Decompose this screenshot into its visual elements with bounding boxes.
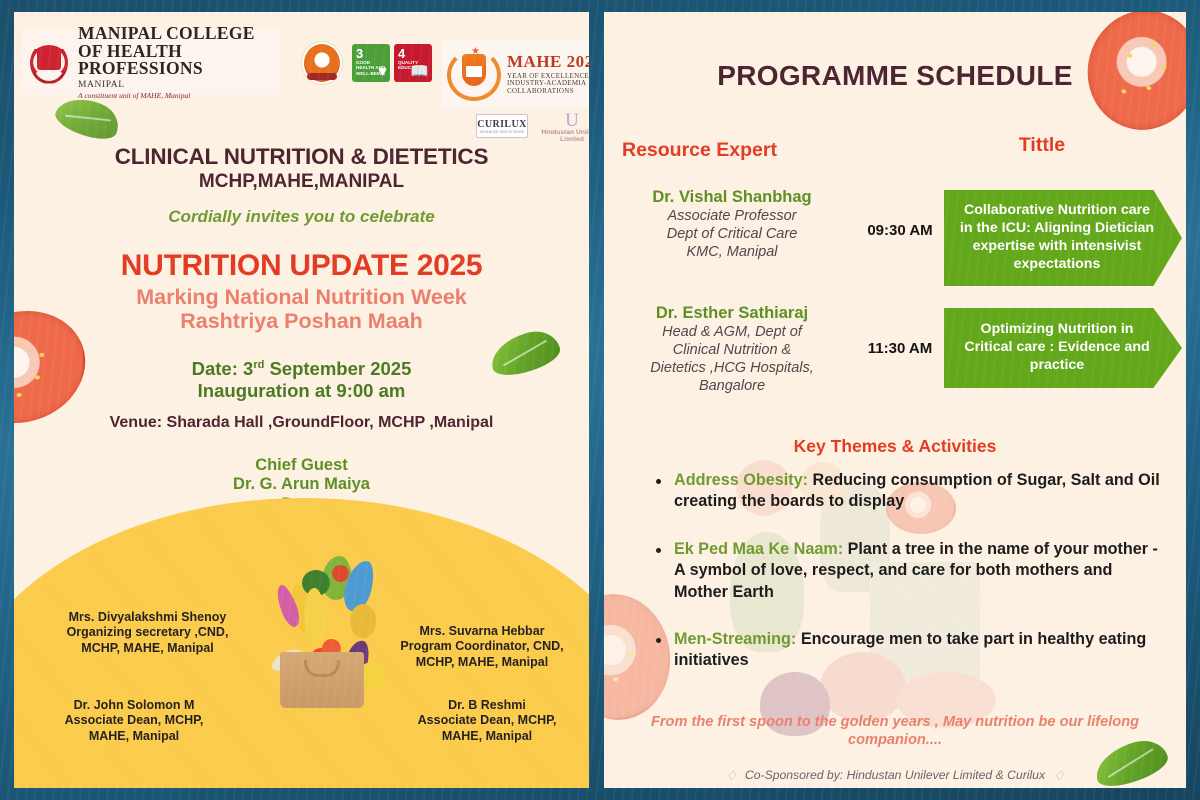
event-subtitle-1: Marking National Nutrition Week bbox=[14, 285, 589, 310]
sdg-4-number: 4 bbox=[398, 47, 429, 60]
curilux-tagline: ADVANCED SKIN SCIENCE bbox=[479, 130, 524, 134]
theme-key: Men-Streaming: bbox=[674, 630, 796, 648]
themes-list: Address Obesity: Reducing consumption of… bbox=[650, 470, 1164, 698]
nutrition-society-logo-icon bbox=[302, 42, 342, 84]
ornament-icon: ♢ bbox=[725, 768, 737, 784]
organiser-name: Dr. B Reshmi bbox=[396, 698, 578, 713]
cosponsor-text: Co-Sponsored by: Hindustan Unilever Limi… bbox=[745, 768, 1045, 782]
mahe-subtitle: YEAR OF EXCELLENCE IN INDUSTRY-ACADEMIA … bbox=[507, 73, 589, 96]
mahe-2025-badge: ★ MAHE 2025 YEAR OF EXCELLENCE IN INDUST… bbox=[442, 40, 589, 108]
invitation-page: MANIPAL COLLEGE OF HEALTH PROFESSIONS MA… bbox=[14, 12, 589, 788]
unilever-u-icon: U bbox=[530, 112, 589, 129]
expert-affiliation: Head & AGM, Dept of Clinical Nutrition &… bbox=[612, 324, 852, 395]
mchp-logo: MANIPAL COLLEGE OF HEALTH PROFESSIONS MA… bbox=[22, 30, 280, 95]
organiser-role: Associate Dean, MCHP, bbox=[396, 713, 578, 728]
expert-affiliation-line: Head & AGM, Dept of bbox=[612, 324, 852, 342]
organiser-john-solomon: Dr. John Solomon M Associate Dean, MCHP,… bbox=[36, 698, 232, 744]
organiser-affiliation: MCHP, MAHE, Manipal bbox=[40, 641, 255, 656]
organiser-role: Program Coordinator, CND, bbox=[382, 639, 582, 654]
department-subtitle: MCHP,MAHE,MANIPAL bbox=[14, 171, 589, 193]
open-book-icon: 📖 bbox=[410, 64, 429, 79]
event-subtitle-2: Rashtriya Poshan Maah bbox=[14, 309, 589, 334]
curilux-name: CURILUX bbox=[477, 119, 526, 130]
organisers-block: Mrs. Divyalakshmi Shenoy Organizing secr… bbox=[14, 598, 589, 788]
cosponsor-line: ♢Co-Sponsored by: Hindustan Unilever Lim… bbox=[604, 767, 1186, 783]
expert-affiliation: Associate Professor Dept of Critical Car… bbox=[612, 208, 852, 261]
heart-pulse-icon: ♥ bbox=[378, 64, 387, 79]
organiser-divyalakshmi: Mrs. Divyalakshmi Shenoy Organizing secr… bbox=[40, 610, 255, 656]
mchp-line-4: A constituent unit of MAHE, Manipal bbox=[78, 92, 280, 100]
expert-cell: Dr. Esther Sathiaraj Head & AGM, Dept of… bbox=[612, 304, 852, 395]
schedule-row: Dr. Esther Sathiaraj Head & AGM, Dept of… bbox=[604, 304, 1186, 420]
expert-name: Dr. Esther Sathiaraj bbox=[612, 304, 852, 322]
chief-guest-name: Dr. G. Arun Maiya bbox=[14, 475, 589, 494]
organiser-name: Mrs. Divyalakshmi Shenoy bbox=[40, 610, 255, 625]
theme-key: Address Obesity: bbox=[674, 471, 808, 489]
date-label: Date: 3 bbox=[192, 358, 254, 379]
theme-key: Ek Ped Maa Ke Naam: bbox=[674, 540, 843, 558]
organiser-affiliation: MAHE, Manipal bbox=[36, 729, 232, 744]
mahe-crest-icon: ★ bbox=[445, 45, 503, 103]
event-time: Inauguration at 9:00 am bbox=[14, 380, 589, 402]
organiser-name: Mrs. Suvarna Hebbar bbox=[382, 624, 582, 639]
session-topic-banner: Optimizing Nutrition in Critical care : … bbox=[944, 308, 1182, 388]
schedule-row: Dr. Vishal Shanbhag Associate Professor … bbox=[604, 188, 1186, 296]
event-title: NUTRITION UPDATE 2025 bbox=[14, 249, 589, 283]
sdg-3-number: 3 bbox=[356, 47, 387, 60]
ornament-icon: ♢ bbox=[1053, 768, 1065, 784]
date-rest: September 2025 bbox=[264, 358, 411, 379]
event-date: Date: 3rd September 2025 bbox=[14, 358, 589, 380]
invitation-line: Cordially invites you to celebrate bbox=[14, 207, 589, 227]
expert-affiliation-line: Dietetics ,HCG Hospitals, bbox=[612, 360, 852, 378]
organiser-b-reshmi: Dr. B Reshmi Associate Dean, MCHP, MAHE,… bbox=[396, 698, 578, 744]
curilux-logo: CURILUX ADVANCED SKIN SCIENCE bbox=[476, 114, 528, 138]
header-logo-band: MANIPAL COLLEGE OF HEALTH PROFESSIONS MA… bbox=[14, 20, 589, 125]
poster-backdrop: MANIPAL COLLEGE OF HEALTH PROFESSIONS MA… bbox=[0, 0, 1200, 800]
mchp-emblem-icon bbox=[28, 40, 70, 86]
column-header-resource-expert: Resource Expert bbox=[622, 139, 777, 162]
department-title: CLINICAL NUTRITION & DIETETICS bbox=[14, 144, 589, 170]
organiser-role: Associate Dean, MCHP, bbox=[36, 713, 232, 728]
organiser-role: Organizing secretary ,CND, bbox=[40, 625, 255, 640]
expert-affiliation-line: Clinical Nutrition & bbox=[612, 342, 852, 360]
theme-item: Men-Streaming: Encourage men to take par… bbox=[650, 629, 1164, 672]
hindustan-unilever-logo: U Hindustan Unilever Limited bbox=[530, 112, 589, 146]
session-time: 11:30 AM bbox=[852, 340, 948, 357]
expert-cell: Dr. Vishal Shanbhag Associate Professor … bbox=[612, 188, 852, 262]
expert-affiliation-line: KMC, Manipal bbox=[612, 244, 852, 262]
invitation-body: CLINICAL NUTRITION & DIETETICS MCHP,MAHE… bbox=[14, 144, 589, 534]
expert-affiliation-line: Bangalore bbox=[612, 378, 852, 396]
expert-affiliation-line: Associate Professor bbox=[612, 208, 852, 226]
event-venue: Venue: Sharada Hall ,GroundFloor, MCHP ,… bbox=[14, 414, 589, 432]
theme-item: Ek Ped Maa Ke Naam: Plant a tree in the … bbox=[650, 539, 1164, 603]
programme-page: PROGRAMME SCHEDULE Resource Expert Tittl… bbox=[604, 12, 1186, 788]
expert-affiliation-line: Dept of Critical Care bbox=[612, 226, 852, 244]
organiser-affiliation: MCHP, MAHE, Manipal bbox=[382, 655, 582, 670]
column-header-title: Tittle bbox=[972, 134, 1112, 157]
themes-heading: Key Themes & Activities bbox=[604, 436, 1186, 457]
expert-name: Dr. Vishal Shanbhag bbox=[612, 188, 852, 206]
mchp-line-2: OF HEALTH PROFESSIONS bbox=[78, 43, 280, 78]
chief-guest-label: Chief Guest bbox=[14, 456, 589, 475]
programme-title: PROGRAMME SCHEDULE bbox=[604, 60, 1186, 92]
closing-tagline: From the first spoon to the golden years… bbox=[640, 714, 1150, 750]
organiser-name: Dr. John Solomon M bbox=[36, 698, 232, 713]
mahe-title: MAHE 2025 bbox=[507, 53, 589, 71]
sdg-4-logo: 4 QUALITY EDUCATION 📖 bbox=[394, 44, 432, 82]
theme-item: Address Obesity: Reducing consumption of… bbox=[650, 470, 1164, 513]
organiser-affiliation: MAHE, Manipal bbox=[396, 729, 578, 744]
date-ordinal: rd bbox=[253, 359, 264, 371]
session-time: 09:30 AM bbox=[852, 222, 948, 239]
hul-name: Hindustan Unilever Limited bbox=[530, 129, 589, 143]
sdg-3-logo: 3 GOOD HEALTH AND WELL-BEING ♥ bbox=[352, 44, 390, 82]
organiser-suvarna: Mrs. Suvarna Hebbar Program Coordinator,… bbox=[382, 624, 582, 670]
session-topic-banner: Collaborative Nutrition care in the ICU:… bbox=[944, 190, 1182, 286]
mchp-line-3: MANIPAL bbox=[78, 81, 280, 91]
